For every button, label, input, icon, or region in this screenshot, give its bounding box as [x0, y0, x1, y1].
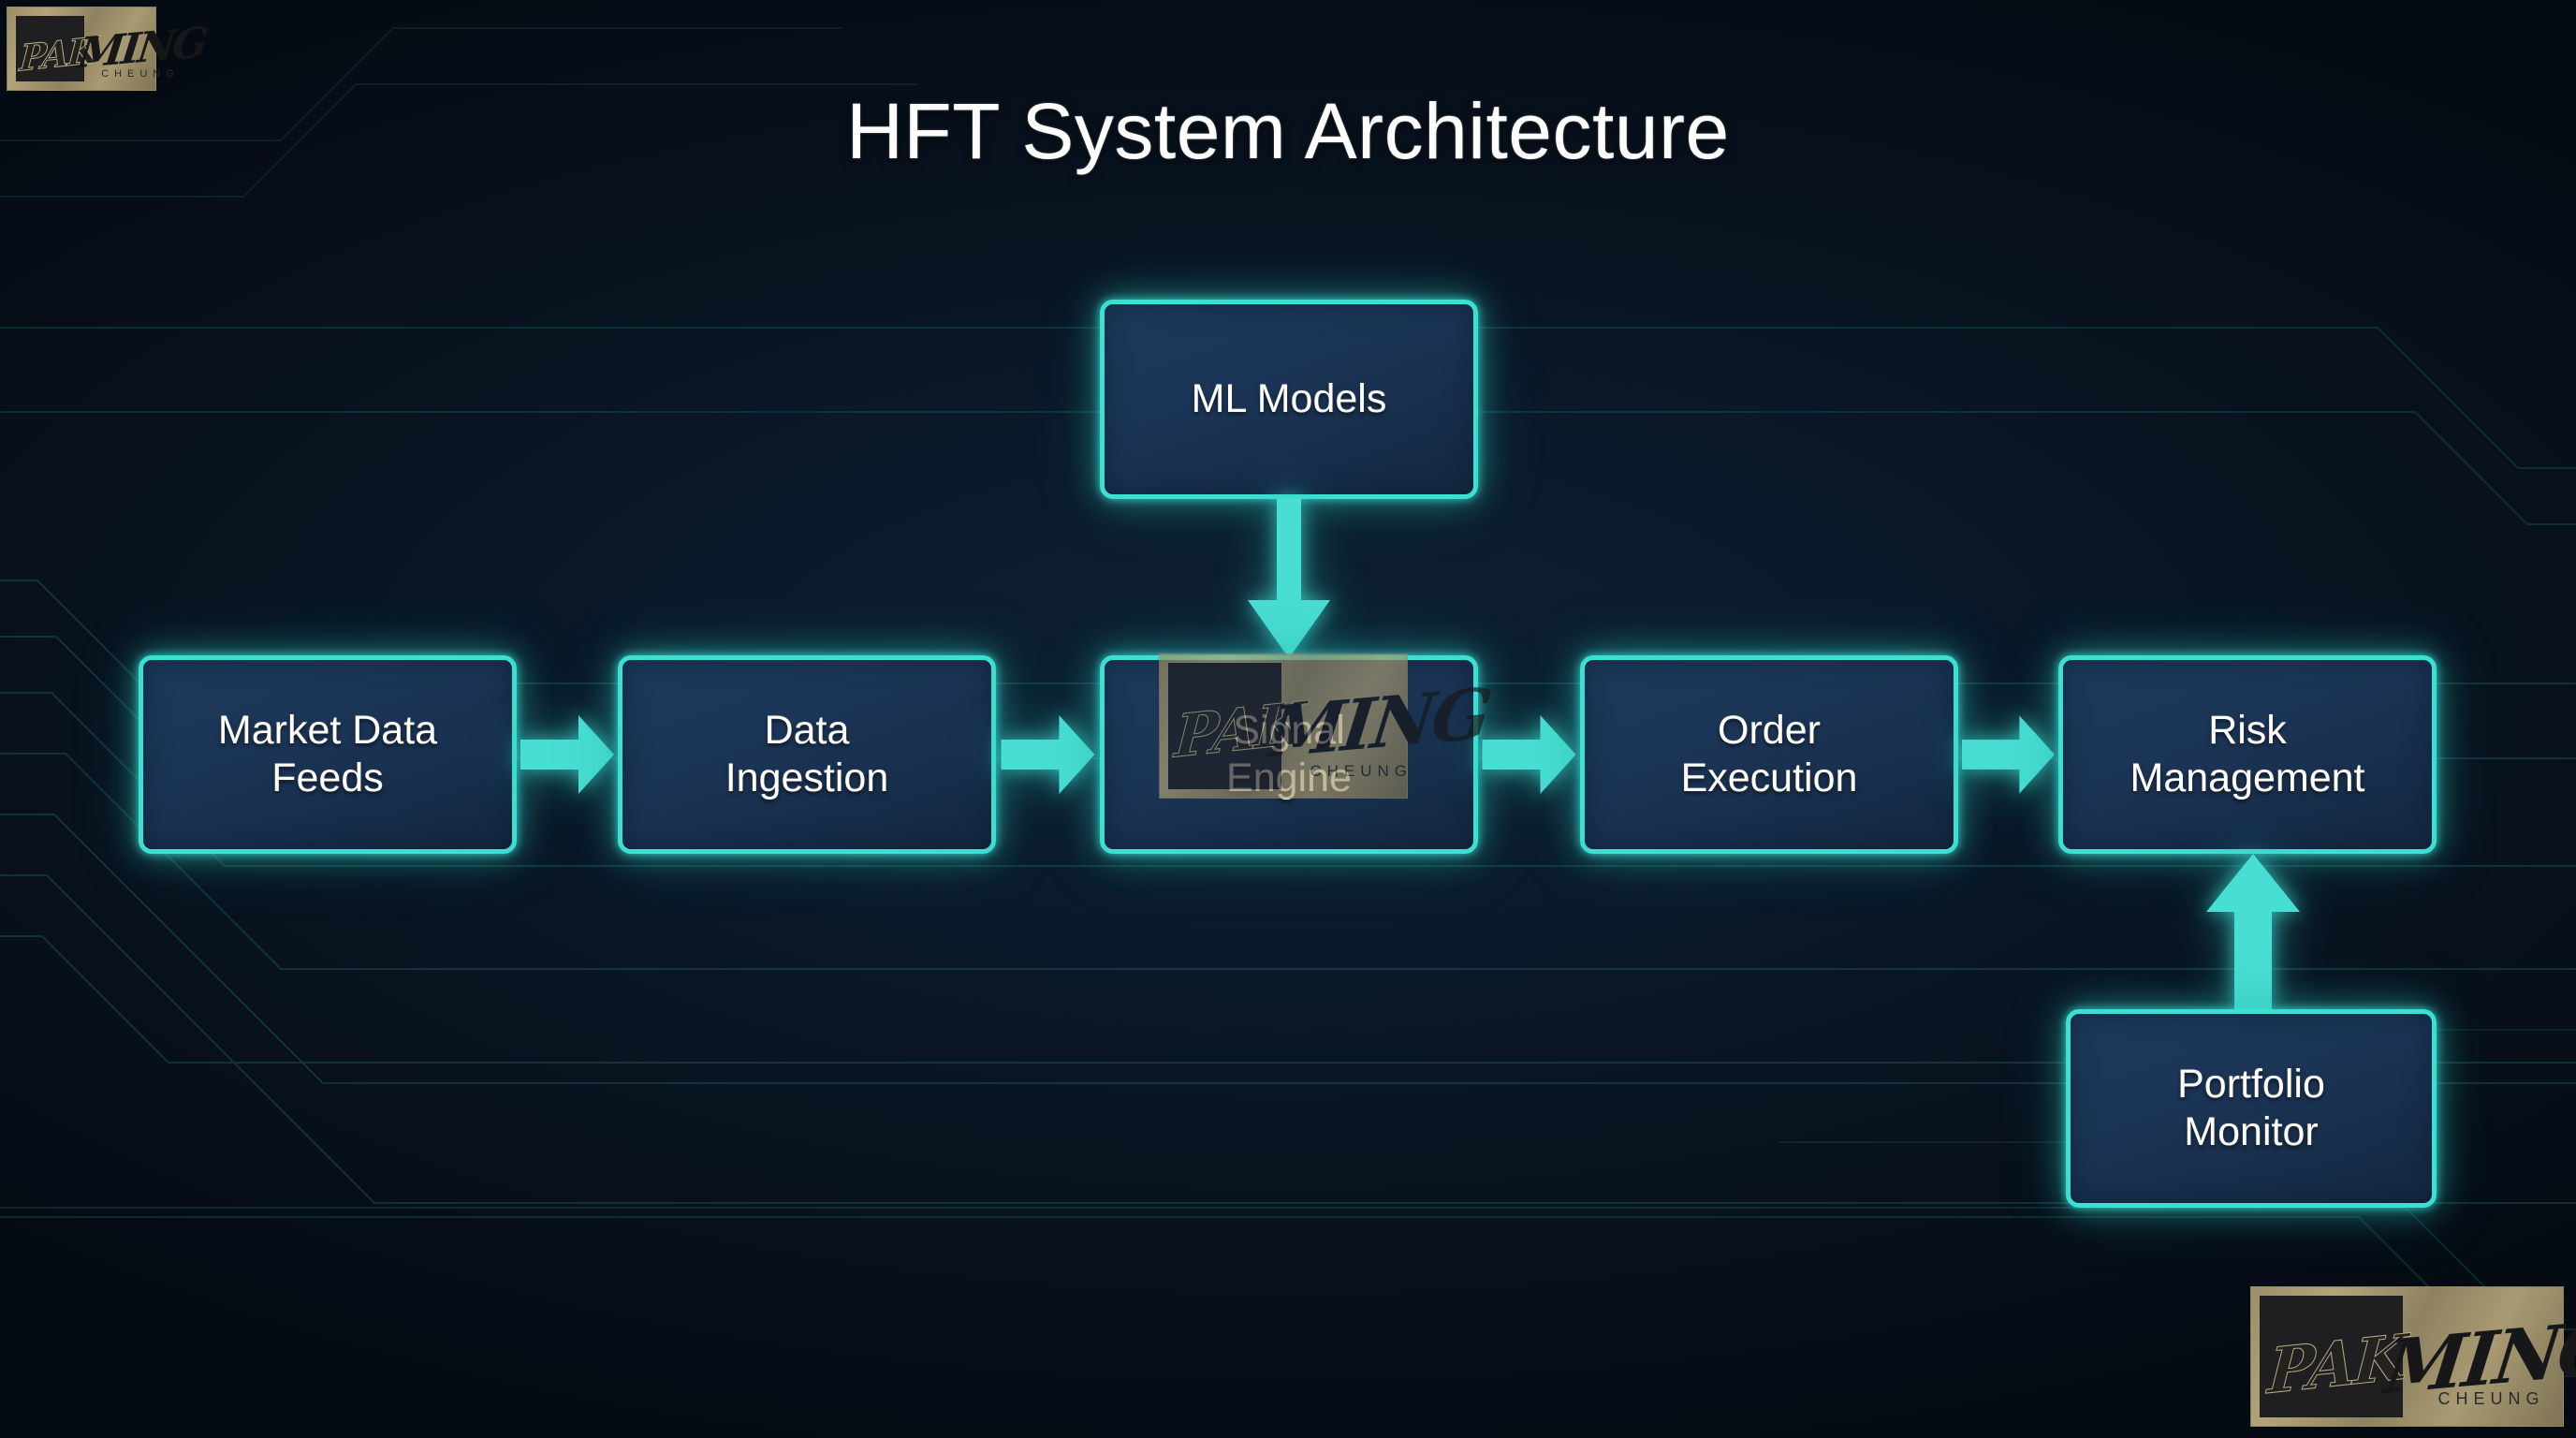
arrow-ml-to-signal	[1248, 499, 1330, 658]
node-label: Data Ingestion	[725, 707, 889, 801]
watermark-logo-center: PAK MING CHEUNG	[1159, 653, 1408, 799]
arrow-portfolio-to-risk	[2206, 854, 2300, 1011]
node-portfolio-monitor[interactable]: Portfolio Monitor	[2066, 1009, 2437, 1208]
page-title: HFT System Architecture	[0, 86, 2576, 177]
arrow-market-to-ingestion	[520, 715, 614, 794]
watermark-cheung-text: CHEUNG	[1310, 762, 1412, 781]
node-market-data-feeds[interactable]: Market Data Feeds	[139, 655, 517, 854]
node-label: Portfolio Monitor	[2177, 1061, 2325, 1155]
node-risk-management[interactable]: Risk Management	[2058, 655, 2437, 854]
node-data-ingestion[interactable]: Data Ingestion	[618, 655, 996, 854]
node-label: Order Execution	[1681, 707, 1858, 801]
node-label: Market Data Feeds	[218, 707, 437, 801]
watermark-cheung-text: CHEUNG	[101, 68, 180, 80]
slide-canvas: HFT System Architecture ML Models Market…	[0, 0, 2576, 1438]
arrow-order-to-risk	[1962, 715, 2055, 794]
watermark-logo-bottom-right: PAK MING CHEUNG	[2250, 1286, 2564, 1427]
arrow-signal-to-order	[1482, 715, 1576, 794]
node-label: ML Models	[1192, 375, 1387, 423]
watermark-logo-top-left: PAK MING CHEUNG	[7, 7, 156, 91]
node-ml-models[interactable]: ML Models	[1100, 300, 1478, 499]
watermark-cheung-text: CHEUNG	[2438, 1389, 2545, 1409]
node-label: Risk Management	[2130, 707, 2365, 801]
node-order-execution[interactable]: Order Execution	[1580, 655, 1958, 854]
arrow-ingestion-to-signal	[1000, 715, 1096, 794]
